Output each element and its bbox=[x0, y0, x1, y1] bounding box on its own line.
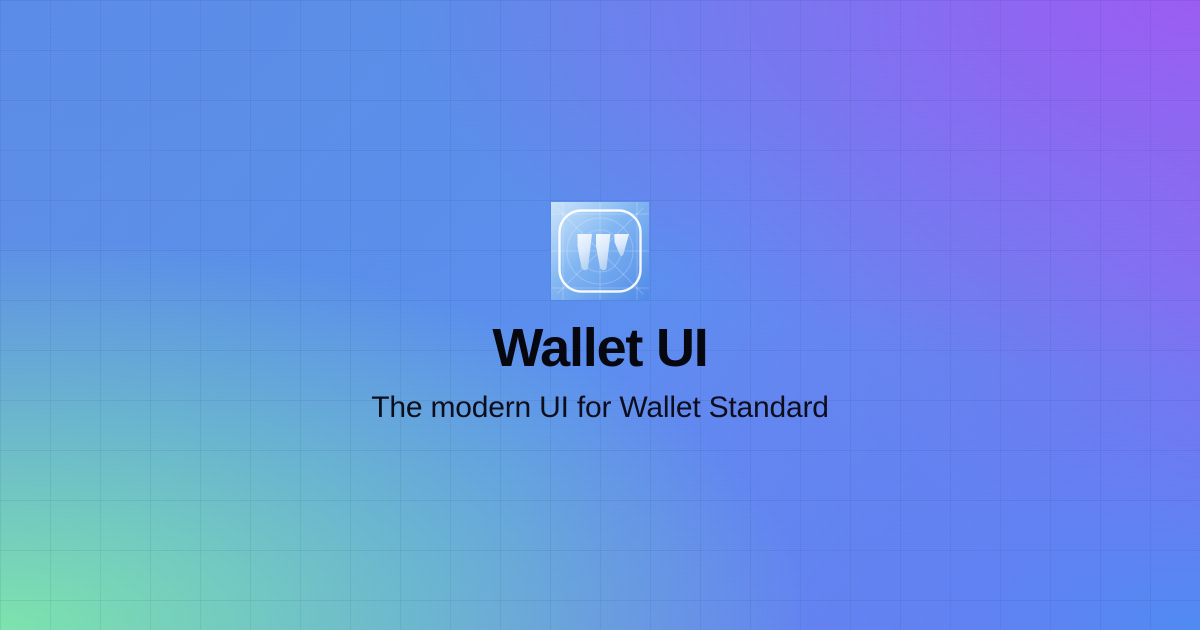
page-subtitle: The modern UI for Wallet Standard bbox=[371, 390, 829, 426]
card-content: Wallet UI The modern UI for Wallet Stand… bbox=[0, 0, 1200, 630]
wallet-ui-app-icon bbox=[551, 202, 649, 300]
og-social-card: Wallet UI The modern UI for Wallet Stand… bbox=[0, 0, 1200, 630]
page-title: Wallet UI bbox=[492, 320, 707, 376]
